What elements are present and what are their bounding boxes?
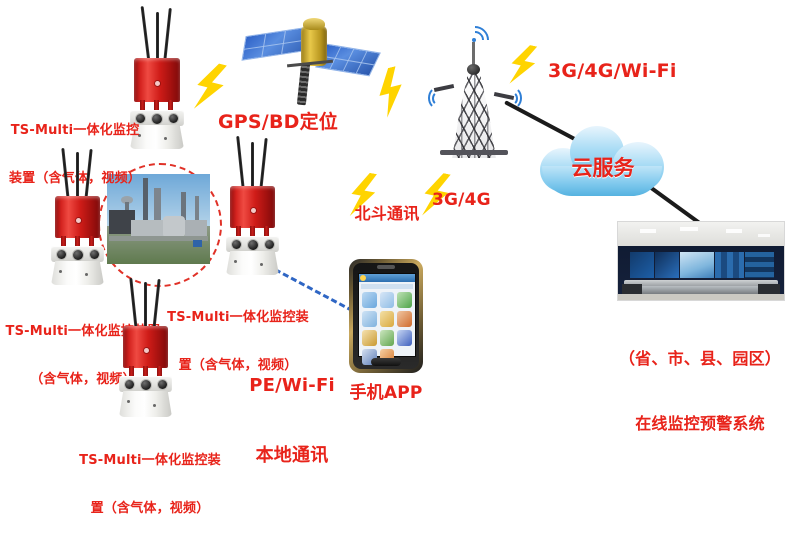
- control-center-photo: [617, 221, 785, 301]
- tower-top-ball: [467, 64, 480, 75]
- cloud-service: 云服务: [538, 122, 668, 202]
- tower-signal-right: [508, 86, 528, 108]
- cell-tower: [430, 24, 520, 160]
- label-local-comm: PE/Wi-Fi 本地通讯: [232, 327, 352, 514]
- tower-base-platform: [440, 150, 508, 155]
- label-mobile-app: 手机APP: [336, 383, 436, 404]
- mobile-device[interactable]: [349, 259, 423, 373]
- device-center: [205, 136, 301, 276]
- video-wall: [630, 252, 774, 278]
- label-control-center: （省、市、县、园区） 在线监控预警系统: [608, 305, 792, 478]
- label-local-comm-line1: PE/Wi-Fi: [232, 374, 352, 397]
- label-control-center-line2: 在线监控预警系统: [608, 413, 792, 435]
- satellite: [243, 8, 373, 108]
- diagram-canvas: 云服务: [0, 0, 797, 464]
- label-control-center-line1: （省、市、县、园区）: [608, 348, 792, 370]
- satellite-mast: [297, 63, 310, 106]
- label-beidou: 北斗通讯: [342, 204, 432, 224]
- device-bottom-left-label: TS-Multi一体化监控装 置（含气体，视频）: [70, 420, 230, 550]
- label-gps-bd: GPS/BD定位: [218, 111, 358, 135]
- device-bottom-left-label-line2: 置（含气体，视频）: [70, 501, 230, 517]
- tower-signal-left: [418, 86, 438, 108]
- device-mid-left: [30, 148, 126, 288]
- device-bottom-left-label-line1: TS-Multi一体化监控装: [70, 453, 230, 469]
- label-3g-4g: 3G/4G: [432, 190, 512, 211]
- satellite-dish: [303, 18, 325, 30]
- bolt-satellite-to-tower: [367, 64, 415, 120]
- cloud-label: 云服务: [538, 152, 668, 182]
- tower-lattice: [448, 74, 500, 158]
- device-bottom-left: [98, 278, 194, 418]
- device-top-left-label-line1: TS-Multi一体化监控: [2, 123, 148, 139]
- mobile-screen[interactable]: [358, 273, 416, 357]
- label-3g-4g-wifi: 3G/4G/Wi-Fi: [548, 60, 718, 84]
